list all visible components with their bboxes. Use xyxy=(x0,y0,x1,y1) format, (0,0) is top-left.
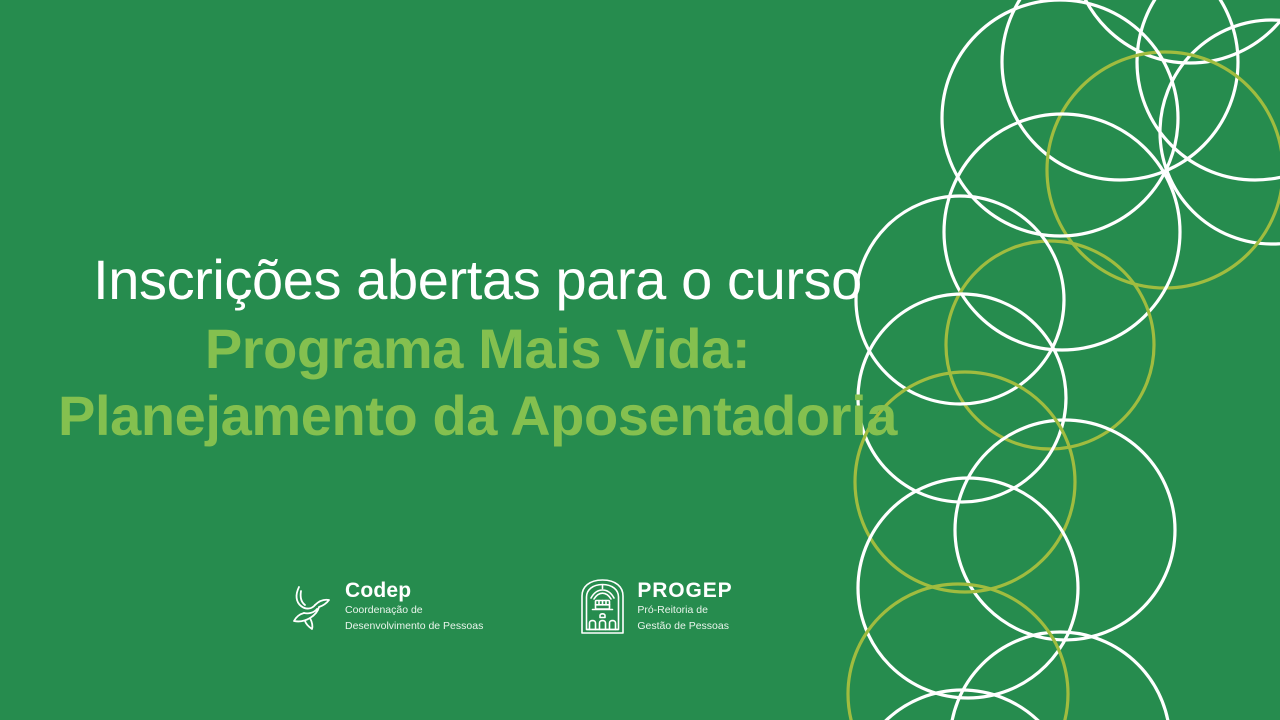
headline-block: Inscrições abertas para o curso Programa… xyxy=(0,248,955,449)
slide-canvas: Inscrições abertas para o curso Programa… xyxy=(0,0,1280,720)
pattern-circle xyxy=(944,114,1180,350)
codep-name: Codep xyxy=(345,580,483,601)
pattern-circle xyxy=(848,584,1068,720)
pattern-circle xyxy=(1002,0,1238,180)
codep-subtitle-line-1: Coordenação de xyxy=(345,604,483,618)
pattern-circle xyxy=(950,632,1170,720)
codep-subtitle-line-2: Desenvolvimento de Pessoas xyxy=(345,620,483,634)
pattern-circle xyxy=(1047,52,1280,288)
pattern-circle xyxy=(1137,0,1280,180)
crest-shield-icon xyxy=(579,578,626,636)
progep-wordmark: PROGEP Pró-Reitoria de Gestão de Pessoas xyxy=(637,580,732,633)
pattern-circle xyxy=(946,241,1154,449)
progep-subtitle-line-1: Pró-Reitoria de xyxy=(637,604,732,618)
progep-subtitle-line-2: Gestão de Pessoas xyxy=(637,620,732,634)
headline-line-2: Programa Mais Vida: xyxy=(0,317,955,382)
pattern-circle xyxy=(852,690,1072,720)
progep-logo: PROGEP Pró-Reitoria de Gestão de Pessoas xyxy=(579,578,732,636)
pattern-circle xyxy=(942,0,1178,236)
pattern-circle xyxy=(858,478,1078,698)
logo-strip: Codep Coordenação de Desenvolvimento de … xyxy=(288,578,733,636)
headline-line-3: Planejamento da Aposentadoria xyxy=(0,384,955,449)
dove-icon xyxy=(288,582,334,632)
pattern-circle xyxy=(1160,20,1280,244)
progep-name: PROGEP xyxy=(637,580,732,601)
codep-logo: Codep Coordenação de Desenvolvimento de … xyxy=(288,580,483,633)
codep-wordmark: Codep Coordenação de Desenvolvimento de … xyxy=(345,580,483,633)
pattern-circle xyxy=(955,420,1175,640)
headline-line-1: Inscrições abertas para o curso xyxy=(0,248,955,313)
pattern-circle xyxy=(1072,0,1280,63)
